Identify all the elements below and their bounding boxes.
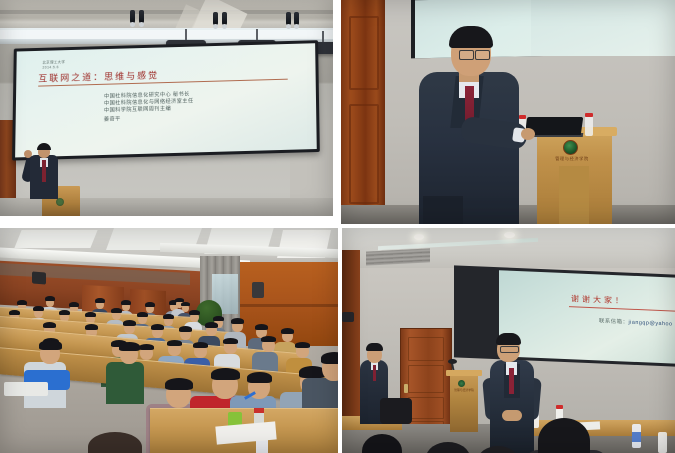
slide-underline (569, 306, 675, 313)
ceiling-downlight (504, 232, 515, 238)
water-bottle (632, 424, 641, 448)
spotlight-icon (139, 10, 144, 23)
photo-collage: 北京理工大学 2014.5.6 互联网之道：思维与感觉 中国社科院信息化研究中心… (0, 0, 675, 453)
standing-attendee-hair (366, 343, 383, 351)
door-panel (349, 16, 379, 90)
projection-screen: 北京理工大学 2014.5.6 互联网之道：思维与感觉 中国社科院信息化研究中心… (15, 43, 317, 157)
speaker-box-icon (32, 271, 46, 284)
presenter-hair (496, 333, 521, 345)
contact-label: 联系信箱： (599, 318, 628, 325)
slide-contact-line: 联系信箱：jiangqp@yahoo (599, 316, 673, 327)
projector-stem (322, 31, 324, 42)
lectern-text: 管理与经济学院 (549, 156, 595, 162)
projector-stem (256, 29, 258, 40)
glasses-icon (500, 346, 519, 353)
ceiling-downlight (414, 234, 424, 240)
wooden-door (341, 0, 385, 224)
door-panel (349, 104, 379, 204)
school-crest-icon (458, 380, 465, 387)
presenter-hands (502, 410, 522, 421)
light-band (0, 30, 333, 39)
lectern-text: 管理与经济学院 (450, 388, 478, 392)
projector-stem (185, 29, 187, 40)
lectern-top (446, 370, 482, 376)
spotlight-icon (286, 12, 291, 25)
ceiling-light-panel (14, 230, 97, 248)
slide-title: 互联网之道：思维与感觉 (38, 66, 288, 87)
camera-icon (342, 312, 354, 322)
projection-screen-frame: 北京理工大学 2014.5.6 互联网之道：思维与感觉 中国社科院信息化研究中心… (12, 40, 320, 160)
slide-header-date: 2014.5.6 (42, 65, 58, 70)
slide-speaker-name: 姜奇平 (104, 115, 121, 122)
projection-screen-frame: 谢谢大家！ 联系信箱：jiangqp@yahoo (454, 265, 675, 366)
presenter-tie (509, 368, 514, 394)
water-bottle (658, 432, 667, 453)
projection-screen: 谢谢大家！ 联系信箱：jiangqp@yahoo (499, 270, 675, 363)
panel-bottom-right[interactable]: 谢谢大家！ 联系信箱：jiangqp@yahoo 管理与经济学院 (342, 228, 675, 453)
speaker-hand (521, 128, 535, 140)
speaker-legs (423, 196, 463, 224)
glasses-icon (459, 50, 474, 60)
water-bottle (585, 116, 593, 136)
spotlight-icon (294, 12, 299, 25)
contact-value: jiangqp@yahoo (628, 320, 672, 328)
ceiling-beam (0, 10, 333, 14)
wall-seam (238, 304, 338, 307)
lectern-base (559, 166, 589, 224)
projection-screen-bright-area (531, 0, 675, 56)
spotlight-icon (213, 12, 218, 25)
spotlight-icon (222, 12, 227, 25)
standing-attendee-tie (373, 365, 376, 381)
microphone-icon (448, 359, 457, 364)
papers (4, 382, 48, 396)
panel-top-right[interactable]: 管理与经济学院 (341, 0, 675, 224)
speaker-box-icon (252, 282, 264, 298)
door-panel (408, 397, 444, 419)
door-panel (408, 365, 444, 393)
slide-thanks-title: 谢谢大家！ (571, 293, 626, 306)
bag (380, 398, 412, 424)
door-handle[interactable] (404, 384, 408, 393)
spotlight-icon (130, 10, 135, 23)
door-panel (408, 337, 444, 361)
panel-bottom-left[interactable]: 3 (0, 228, 338, 453)
panel-top-left[interactable]: 北京理工大学 2014.5.6 互联网之道：思维与感觉 中国社科院信息化研究中心… (0, 0, 333, 216)
speaker-hair (37, 143, 51, 150)
glasses-icon (475, 50, 490, 60)
wood-wall-left (342, 250, 360, 428)
speaker-tie (42, 160, 46, 182)
speaker-hand (24, 150, 32, 158)
school-crest-icon (563, 140, 578, 155)
bottle-cap (254, 408, 264, 413)
slide-bullet-3: 中国科学院互联网周刊主编 (104, 106, 171, 115)
